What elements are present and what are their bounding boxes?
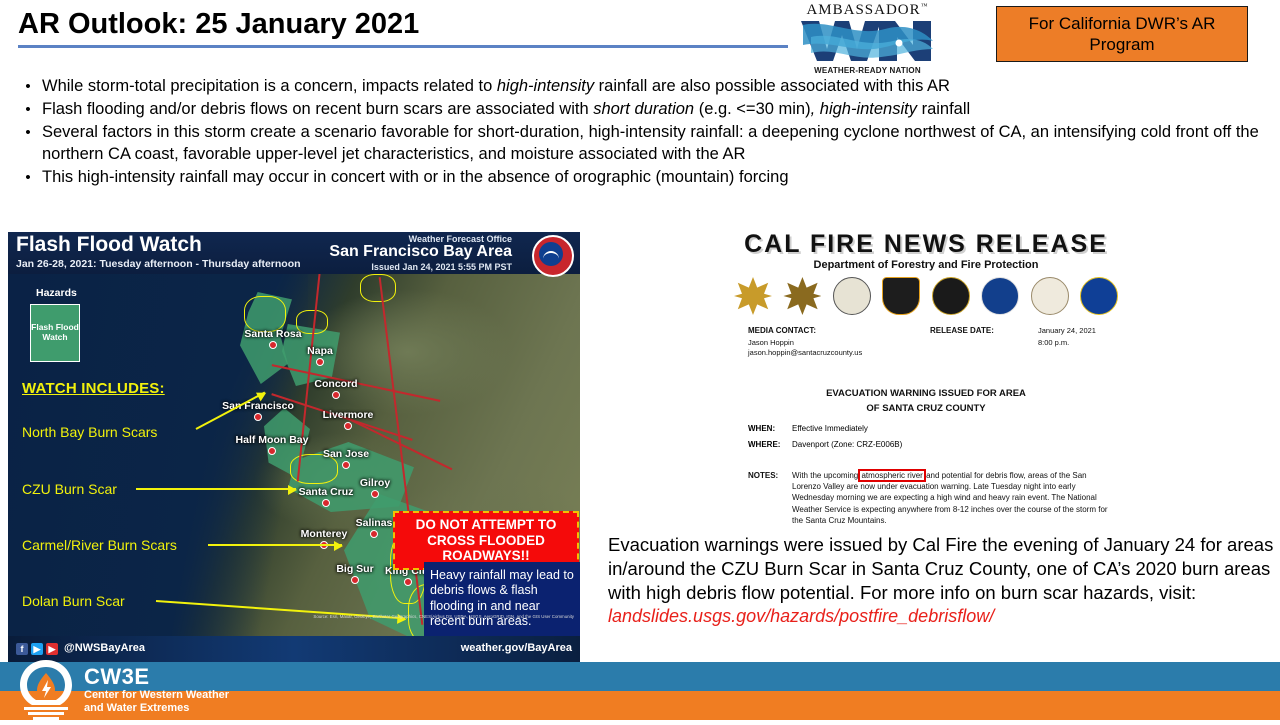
- crossed-axes-seal-icon: [1031, 277, 1069, 315]
- social-handle: @NWSBayArea: [64, 642, 145, 654]
- city-label: Santa Rosa: [244, 328, 301, 340]
- do-not-cross-banner: DO NOT ATTEMPT TO CROSS FLOODED ROADWAYS…: [393, 511, 579, 570]
- city-label: Salinas: [356, 517, 393, 529]
- bullet-text: While storm-total precipitation is a con…: [42, 76, 1268, 98]
- cw3e-logo-icon: [14, 658, 78, 720]
- notes-label: NOTES:: [748, 470, 792, 481]
- sheriff-star-seal-icon-2: [783, 277, 821, 315]
- hazards-legend-title: Hazards: [36, 287, 77, 299]
- hazard-legend-swatch: Flash Flood Watch: [30, 304, 80, 362]
- bullet-item-1: •While storm-total precipitation is a co…: [14, 76, 1268, 98]
- bullet-span: Flash flooding and/or debris flows on re…: [42, 100, 593, 118]
- notes-text-pre: With the upcoming: [792, 471, 860, 480]
- evacuation-summary-paragraph: Evacuation warnings were issued by Cal F…: [608, 533, 1276, 629]
- city-marker-dot: [316, 358, 324, 366]
- notes-body: With the upcoming atmospheric river and …: [792, 470, 1110, 526]
- bullet-text: This high-intensity rainfall may occur i…: [42, 167, 1268, 189]
- city-label: San Jose: [323, 448, 369, 460]
- city-marker-dot: [342, 461, 350, 469]
- release-date-label: RELEASE DATE:: [930, 326, 994, 335]
- wrn-ambassador-wordmark: AMBASSADOR™: [795, 2, 940, 19]
- fire-department-maltese-seal-icon: [1080, 277, 1118, 315]
- city-marker-dot: [322, 499, 330, 507]
- youtube-icon[interactable]: ▶: [46, 643, 58, 655]
- pointer-arrow-carmel: [208, 544, 342, 546]
- city-marker-dot: [268, 447, 276, 455]
- city-marker-dot: [404, 578, 412, 586]
- facebook-icon[interactable]: f: [16, 643, 28, 655]
- city-label: Santa Cruz: [299, 486, 354, 498]
- media-contact-name: Jason Hoppin: [748, 338, 794, 347]
- calfire-where-row: WHERE:Davenport (Zone: CRZ-E006B): [748, 440, 902, 449]
- calfire-release-title: CAL FIRE NEWS RELEASE: [700, 230, 1152, 259]
- map-source-attribution: Source: Esri, Maxar, GeoEye, Earthstar G…: [313, 614, 574, 619]
- bullet-marker: •: [14, 76, 42, 98]
- burn-scar-outline-north-bay: [244, 296, 286, 332]
- bullet-emphasis: , high-intensity: [811, 100, 917, 118]
- city-marker-dot: [371, 490, 379, 498]
- city-label: Concord: [314, 378, 357, 390]
- scar-label-north-bay: North Bay Burn Scars: [22, 424, 157, 440]
- when-label: WHEN:: [748, 424, 792, 433]
- media-contact-email: jason.hoppin@santacruzcounty.us: [748, 348, 862, 357]
- bullet-text: Several factors in this storm create a s…: [42, 122, 1268, 166]
- release-date-value: January 24, 2021: [1038, 326, 1096, 335]
- cw3e-tagline: Center for Western Weather and Water Ext…: [84, 689, 229, 715]
- calfire-when-row: WHEN:Effective Immediately: [748, 424, 868, 433]
- dwr-program-callout-text: For California DWR’s AR Program: [1003, 13, 1241, 56]
- office-website-url: weather.gov/BayArea: [461, 642, 572, 654]
- bullet-span: rainfall: [917, 100, 970, 118]
- title-underline-rule: [18, 45, 788, 48]
- graphic-header-band: Flash Flood Watch Jan 26-28, 2021: Tuesd…: [8, 232, 580, 274]
- page-title: AR Outlook: 25 January 2021: [18, 8, 419, 41]
- forecast-office-name: San Francisco Bay Area: [329, 243, 512, 261]
- calfire-heading-line-2: OF SANTA CRUZ COUNTY: [700, 403, 1152, 414]
- evacuation-summary-text: Evacuation warnings were issued by Cal F…: [608, 534, 1273, 603]
- bullet-span: This high-intensity rainfall may occur i…: [42, 168, 789, 186]
- footer-blue-band: [0, 662, 1280, 691]
- city-marker-dot: [370, 530, 378, 538]
- calfire-news-release: CAL FIRE NEWS RELEASE Department of Fore…: [700, 228, 1152, 518]
- city-marker-dot: [332, 391, 340, 399]
- pointer-arrow-czu: [136, 488, 296, 490]
- cw3e-name: CW3E: [84, 664, 150, 690]
- bullet-list: •While storm-total precipitation is a co…: [14, 76, 1268, 190]
- calfire-notes-row: NOTES:With the upcoming atmospheric rive…: [748, 470, 1120, 526]
- graphic-footer-band: f ▶ ▶ @NWSBayArea weather.gov/BayArea: [8, 636, 580, 662]
- nws-flash-flood-watch-graphic: Santa RosaNapaConcordSan FranciscoLiverm…: [8, 232, 580, 662]
- calfire-heading-line-1: EVACUATION WARNING ISSUED FOR AREA: [700, 388, 1152, 399]
- city-label: Gilroy: [360, 477, 390, 489]
- bullet-item-3: •Several factors in this storm create a …: [14, 122, 1268, 166]
- city-label: Monterey: [301, 528, 348, 540]
- graphic-issued-time: Issued Jan 24, 2021 5:55 PM PST: [371, 262, 512, 272]
- city-marker-dot: [269, 341, 277, 349]
- graphic-subtitle: Jan 26-28, 2021: Tuesday afternoon - Thu…: [16, 258, 301, 270]
- office-emergency-services-seal-icon: [932, 277, 970, 315]
- city-label: Napa: [307, 345, 333, 357]
- watch-includes-title: WATCH INCLUDES:: [22, 380, 165, 397]
- scar-label-czu: CZU Burn Scar: [22, 481, 117, 497]
- cal-fire-shield-icon: [882, 277, 920, 315]
- media-contact-label: MEDIA CONTACT:: [748, 326, 816, 335]
- trademark-icon: ™: [921, 2, 929, 10]
- where-value: Davenport (Zone: CRZ-E006B): [792, 440, 902, 449]
- city-marker-dot: [344, 422, 352, 430]
- bullet-span: Several factors in this storm create a s…: [42, 123, 1259, 163]
- scar-label-dolan: Dolan Burn Scar: [22, 593, 125, 609]
- wrn-monogram-icon: [801, 19, 934, 63]
- santa-cruz-fire-seal-icon: [981, 277, 1019, 315]
- city-label: Half Moon Bay: [236, 434, 309, 446]
- where-label: WHERE:: [748, 440, 792, 449]
- when-value: Effective Immediately: [792, 424, 868, 433]
- bullet-text: Flash flooding and/or debris flows on re…: [42, 99, 1268, 121]
- nws-seal-icon: [532, 235, 574, 277]
- wrn-ambassador-text: AMBASSADOR: [806, 2, 920, 18]
- scar-label-carmel-river: Carmel/River Burn Scars: [22, 537, 177, 553]
- twitter-icon[interactable]: ▶: [31, 643, 43, 655]
- wrn-tagline: WEATHER-READY NATION: [795, 66, 940, 75]
- agency-seal-row: [734, 276, 1118, 316]
- bullet-span: While storm-total precipitation is a con…: [42, 77, 497, 95]
- graphic-title: Flash Flood Watch: [16, 233, 202, 257]
- city-label: Big Sur: [336, 563, 373, 575]
- sheriff-star-seal-icon: [734, 277, 772, 315]
- usgs-debris-flow-link[interactable]: landslides.usgs.gov/hazards/postfire_deb…: [608, 605, 1276, 628]
- atmospheric-river-highlight: atmospheric river: [860, 471, 923, 480]
- city-label: Livermore: [323, 409, 374, 421]
- cw3e-footer: CW3E Center for Western Weather and Wate…: [0, 662, 1280, 720]
- bullet-span: rainfall are also possible associated wi…: [594, 77, 950, 95]
- cw3e-tagline-line-2: and Water Extremes: [84, 702, 229, 715]
- county-seal-icon: [833, 277, 871, 315]
- bullet-marker: •: [14, 122, 42, 166]
- bullet-emphasis: high-intensity: [497, 77, 594, 95]
- wrn-ambassador-logo: AMBASSADOR™ WEATHER-READY NATION: [795, 2, 940, 80]
- city-marker-dot: [254, 413, 262, 421]
- hazard-legend-swatch-label: Flash Flood Watch: [31, 323, 79, 343]
- bullet-emphasis: short duration: [593, 100, 694, 118]
- city-marker-dot: [351, 576, 359, 584]
- cw3e-tagline-line-1: Center for Western Weather: [84, 689, 229, 702]
- map-note-paragraph-1: Heavy rainfall may lead to debris flows …: [430, 568, 574, 629]
- bullet-span: (e.g. <=30 min): [694, 100, 810, 118]
- bullet-marker: •: [14, 167, 42, 189]
- release-time-value: 8:00 p.m.: [1038, 338, 1069, 347]
- bullet-item-4: •This high-intensity rainfall may occur …: [14, 167, 1268, 189]
- bullet-item-2: •Flash flooding and/or debris flows on r…: [14, 99, 1268, 121]
- dwr-program-callout: For California DWR’s AR Program: [996, 6, 1248, 62]
- bullet-marker: •: [14, 99, 42, 121]
- calfire-release-subtitle: Department of Forestry and Fire Protecti…: [700, 259, 1152, 271]
